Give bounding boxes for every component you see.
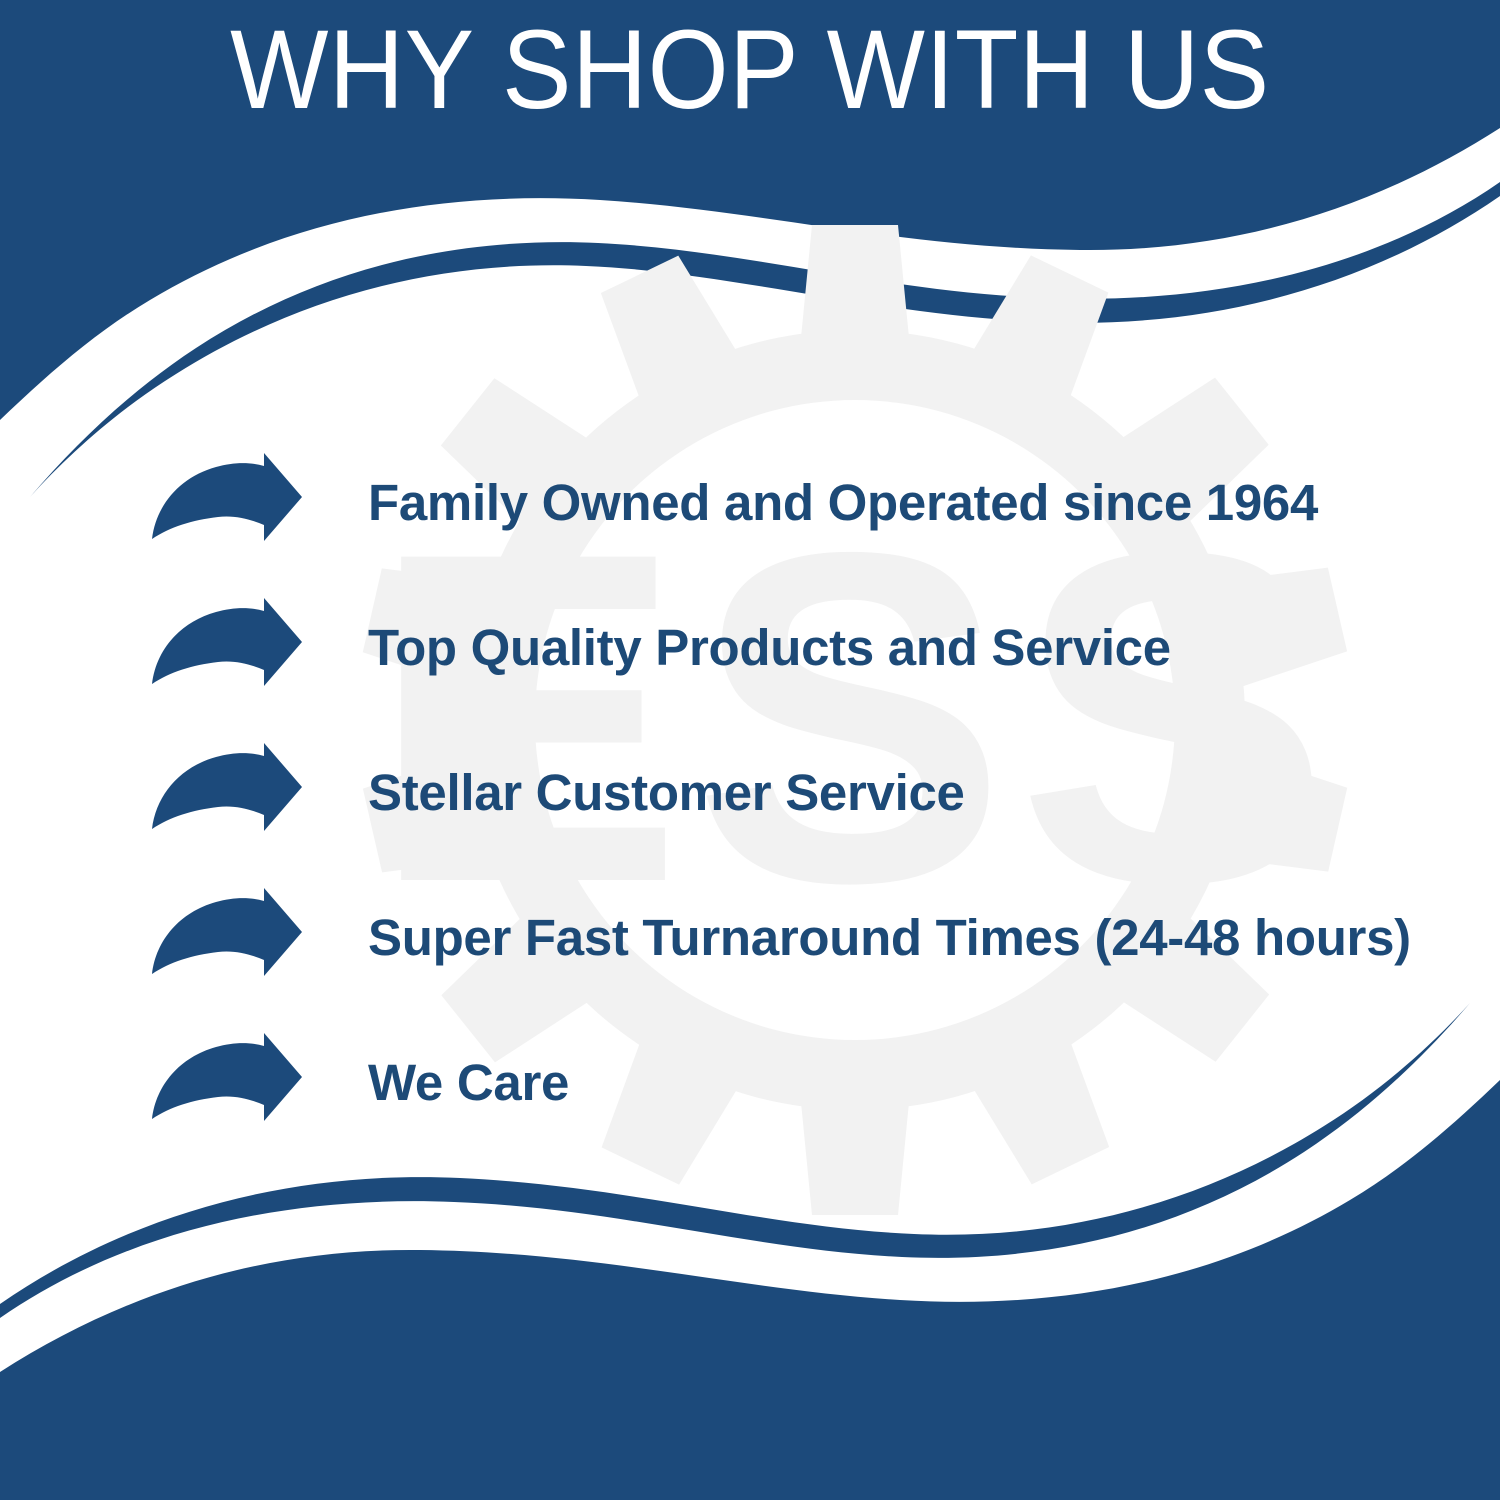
benefit-label: Family Owned and Operated since 1964 bbox=[368, 474, 1318, 530]
benefits-list: Family Owned and Operated since 1964 Top… bbox=[0, 430, 1500, 1155]
curved-arrow-right-icon bbox=[150, 453, 302, 553]
list-item: Top Quality Products and Service bbox=[0, 575, 1500, 720]
list-item: We Care bbox=[0, 1010, 1500, 1155]
benefit-label: Stellar Customer Service bbox=[368, 764, 965, 820]
list-item: Super Fast Turnaround Times (24-48 hours… bbox=[0, 865, 1500, 1010]
list-item: Stellar Customer Service bbox=[0, 720, 1500, 865]
curved-arrow-right-icon bbox=[150, 743, 302, 843]
why-shop-with-us-poster: ESS WHY SHOP WITH US Family Owned and Op… bbox=[0, 0, 1500, 1500]
curved-arrow-right-icon bbox=[150, 888, 302, 988]
curved-arrow-right-icon bbox=[150, 1033, 302, 1133]
benefit-label: Top Quality Products and Service bbox=[368, 619, 1171, 675]
benefit-label: Super Fast Turnaround Times (24-48 hours… bbox=[368, 909, 1411, 965]
curved-arrow-right-icon bbox=[150, 598, 302, 698]
benefit-label: We Care bbox=[368, 1054, 569, 1110]
list-item: Family Owned and Operated since 1964 bbox=[0, 430, 1500, 575]
